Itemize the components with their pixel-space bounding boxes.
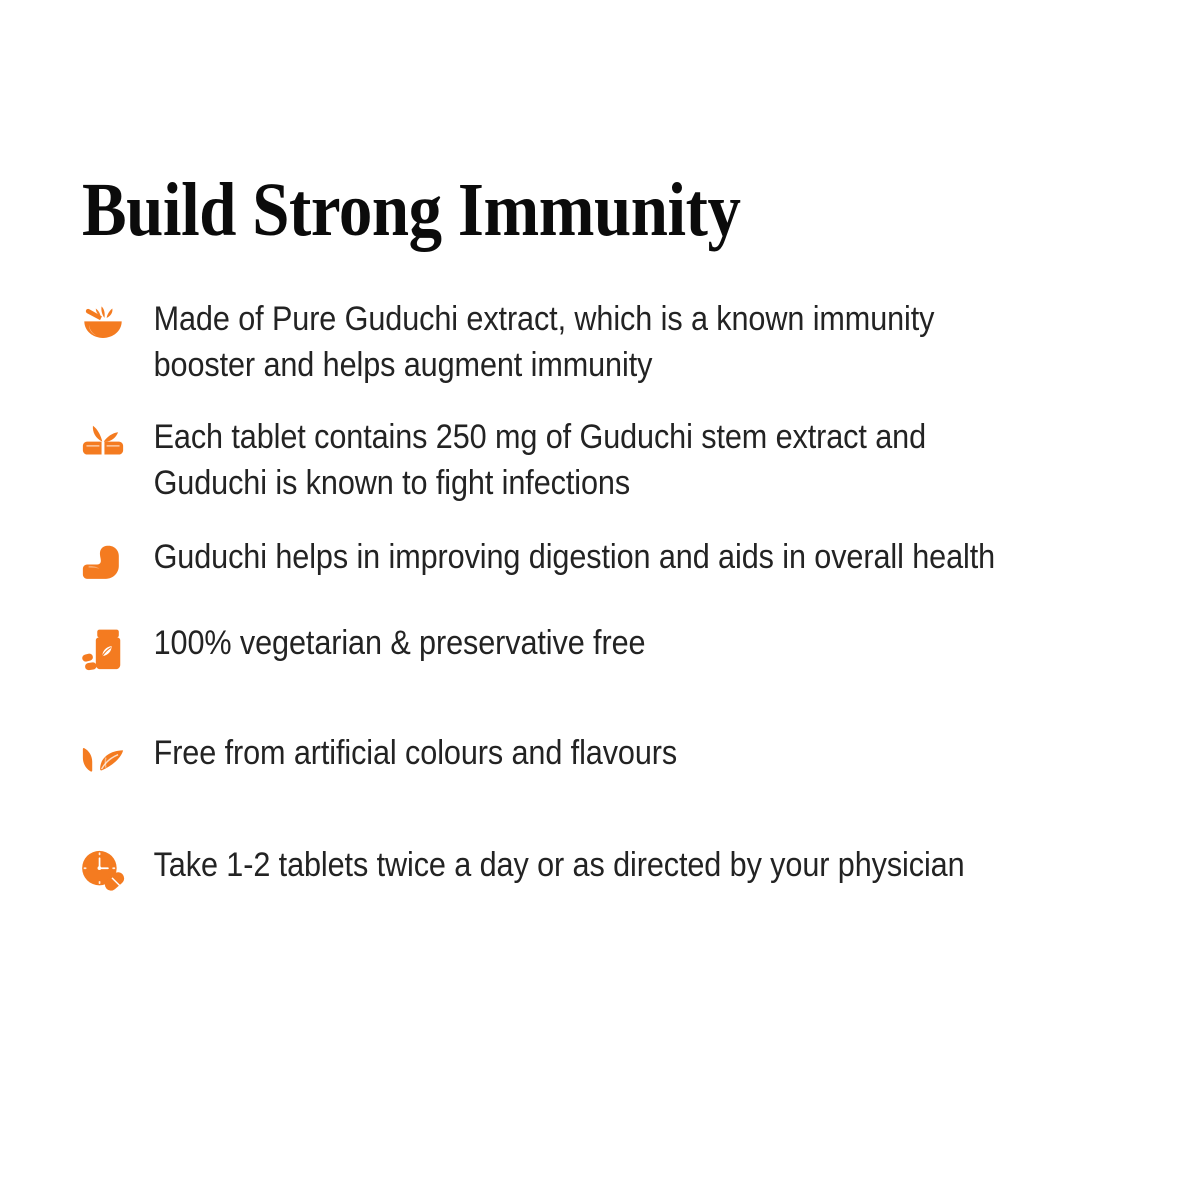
list-item-label: Free from artificial colours and flavour… — [132, 730, 1043, 776]
list-item: Take 1-2 tablets twice a day or as direc… — [74, 842, 1144, 898]
tablet-with-leaves-icon — [74, 416, 132, 470]
list-item-label: Each tablet contains 250 mg of Guduchi s… — [132, 414, 1043, 506]
benefits-list: Made of Pure Guduchi extract, which is a… — [74, 296, 1144, 898]
list-item-label: Made of Pure Guduchi extract, which is a… — [132, 296, 1043, 388]
clock-with-capsule-icon — [74, 844, 132, 898]
list-item-label: Take 1-2 tablets twice a day or as direc… — [132, 842, 1043, 888]
page-title: Build Strong Immunity — [82, 168, 741, 252]
list-item: Free from artificial colours and flavour… — [74, 730, 1144, 786]
list-item-label: 100% vegetarian & preservative free — [132, 620, 1043, 666]
product-benefits-card: Build Strong Immunity Made of Pure — [0, 0, 1200, 1200]
list-item: Made of Pure Guduchi extract, which is a… — [74, 296, 1144, 388]
list-item: Each tablet contains 250 mg of Guduchi s… — [74, 414, 1144, 506]
flexed-bicep-icon — [74, 536, 132, 590]
list-item-label: Guduchi helps in improving digestion and… — [132, 534, 1043, 580]
two-leaves-icon — [74, 732, 132, 786]
list-item: Guduchi helps in improving digestion and… — [74, 534, 1144, 590]
supplement-bottle-leaf-icon — [74, 622, 132, 676]
list-item: 100% vegetarian & preservative free — [74, 620, 1144, 676]
mortar-pestle-herb-icon — [74, 298, 132, 352]
